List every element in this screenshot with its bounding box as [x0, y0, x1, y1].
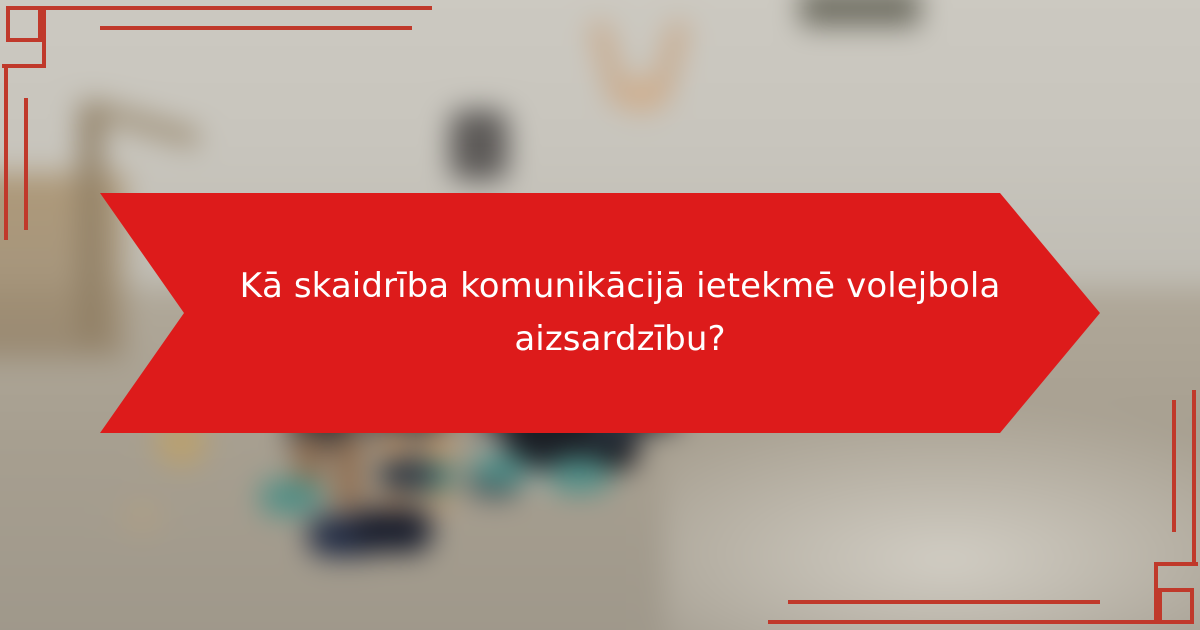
ornament-outer-horizontal [768, 620, 1158, 624]
ornament-inner-vertical [24, 98, 28, 230]
ornament-outer-horizontal [42, 6, 432, 10]
ornament-square-left [1190, 588, 1194, 624]
ornament-square-top [1158, 620, 1194, 624]
ornament-square-bottom [6, 38, 42, 42]
social-card: Kā skaidrība komunikācijā ietekmē volejb… [0, 0, 1200, 630]
page-title: Kā skaidrība komunikācijā ietekmē volejb… [220, 260, 1020, 365]
ornament-edge-vertical [4, 68, 8, 240]
ornament-square-left [6, 6, 10, 42]
ornament-elbow [1154, 562, 1198, 566]
ornament-outer-vertical [42, 6, 46, 68]
ornament-edge-vertical [1192, 390, 1196, 562]
ornament-square-bottom [1158, 588, 1194, 592]
headline-banner: Kā skaidrība komunikācijā ietekmē volejb… [100, 193, 1100, 433]
ornament-outer-vertical [1154, 562, 1158, 624]
ornament-square-top [6, 6, 42, 10]
ornament-inner-vertical [1172, 400, 1176, 532]
ornament-elbow [2, 64, 46, 68]
corner-ornament-bottom-right [1040, 510, 1200, 630]
ornament-inner-horizontal [100, 26, 412, 30]
ornament-square-right [1158, 588, 1162, 624]
ornament-inner-horizontal [788, 600, 1100, 604]
corner-ornament-top-left [0, 0, 160, 120]
